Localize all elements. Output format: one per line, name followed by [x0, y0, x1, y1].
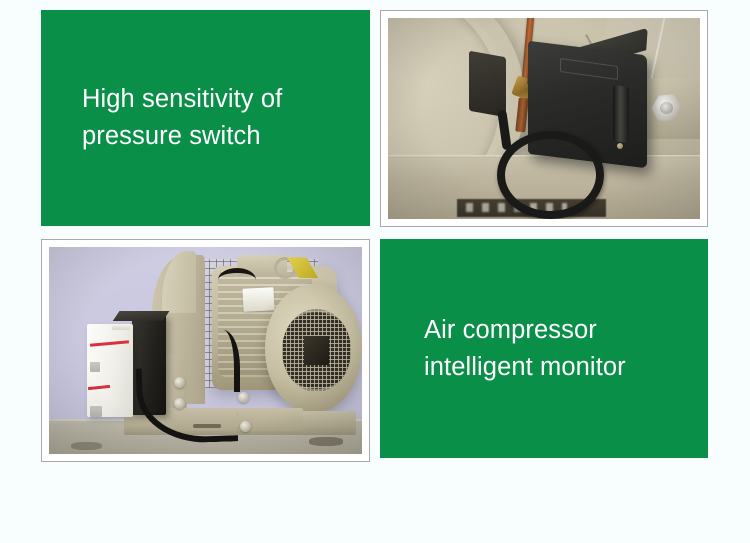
caption-tile-pressure-switch: High sensitivity of pressure switch — [41, 10, 370, 226]
coiled-black-cable — [497, 131, 603, 219]
photo-pressure-switch — [380, 10, 708, 227]
caption-tile-intelligent-monitor: Air compressor intelligent monitor — [380, 239, 708, 458]
intelligent-monitor-black-top — [113, 311, 170, 321]
motor-bolt — [240, 421, 251, 432]
pressure-switch-lever-slot — [613, 85, 629, 143]
caption-text-intelligent-monitor: Air compressor intelligent monitor — [424, 312, 692, 386]
motor-nameplate-label — [242, 288, 274, 312]
base-floor-shadow-right — [309, 437, 343, 445]
motor-top-cable — [218, 268, 256, 292]
intelligent-monitor-cap — [112, 324, 131, 331]
motor-fan-hub — [304, 336, 329, 365]
photo-intelligent-monitor — [41, 239, 370, 462]
pressure-switch-screw — [617, 143, 623, 149]
intelligent-monitor-vent-lower — [90, 406, 101, 416]
feature-grid: High sensitivity of pressure switch — [0, 0, 750, 543]
caption-text-pressure-switch: High sensitivity of pressure switch — [82, 81, 354, 155]
intelligent-monitor-vent — [90, 362, 100, 372]
photo-pressure-switch-image — [388, 18, 700, 219]
base-floor-shadow-left — [71, 442, 102, 450]
black-bracket — [469, 51, 506, 118]
photo-intelligent-monitor-image — [49, 247, 362, 454]
